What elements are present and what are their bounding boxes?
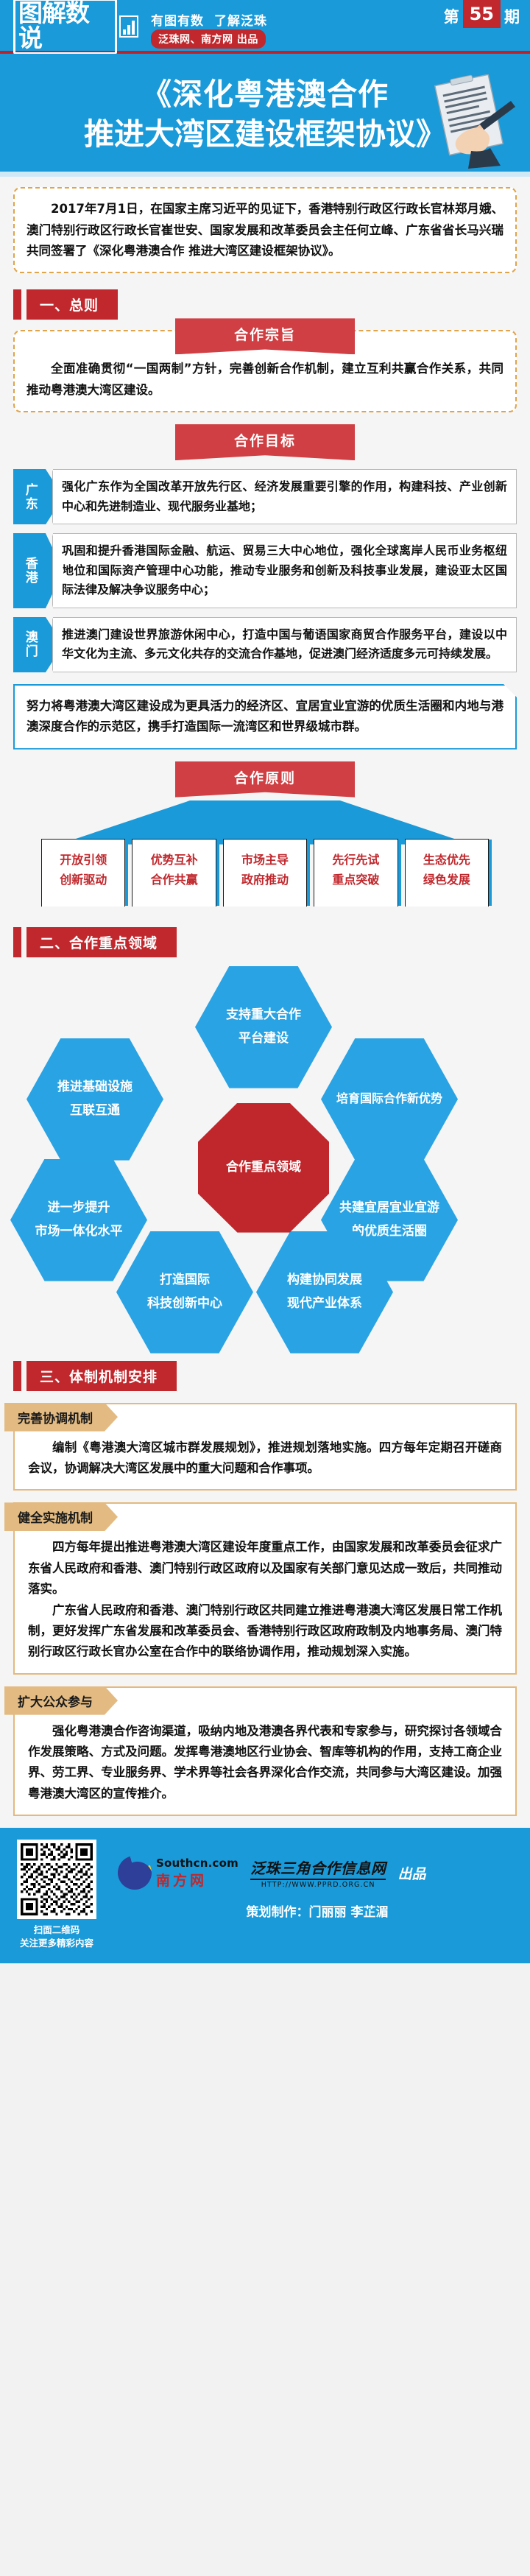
principles-columns: 开放引领 创新驱动 优势互补 合作共赢 市场主导 政府推动 先行先试 重点突破 … xyxy=(41,839,489,907)
principle-3-line-1: 市场主导 xyxy=(224,850,306,870)
region-row-hongkong: 香港 巩固和提升香港国际金融、航运、贸易三大中心地位，强化全球离岸人民币业务枢纽… xyxy=(13,533,517,608)
principle-item-2: 优势互补 合作共赢 xyxy=(132,839,216,907)
principle-2-line-2: 合作共赢 xyxy=(132,870,215,890)
masthead: 图解数说 有图有数了解泛珠 泛珠网、南方网 出品 第 55 期 xyxy=(0,0,530,54)
slogan-part-1: 有图有数 xyxy=(151,14,204,29)
credit-line: 策划制作：门丽丽 李芷湄 xyxy=(118,1901,517,1920)
footer: 扫面二维码 关注更多精彩内容 Southcn.com 南方网 泛珠三角合作信息网… xyxy=(0,1828,530,1963)
goals-banner: 合作目标 xyxy=(175,424,355,460)
mechanism-paragraph: 广东省人民政府和香港、澳门特别行政区共同建立推进粤港澳大湾区发展日常工作机制，更… xyxy=(28,1600,502,1663)
issue-suffix: 期 xyxy=(504,6,520,28)
region-name-macau: 澳门 xyxy=(22,630,36,658)
hex-market-integration: 进一步提升 市场一体化水平 xyxy=(10,1159,147,1281)
principles-banner-label: 合作原则 xyxy=(234,770,296,786)
region-text-macau: 推进澳门建设世界旅游休闲中心，打造中国与葡语国家商贸合作服务平台，建设以中华文化… xyxy=(62,625,507,664)
section-accent-bar xyxy=(13,927,21,957)
region-name-guangdong: 广东 xyxy=(22,483,36,511)
southcn-swirl-icon xyxy=(118,1856,152,1890)
purpose-text: 全面准确贯彻“一国两制”方针，完善创新合作机制，建立互利共赢合作关系，共同推动粤… xyxy=(26,359,504,401)
ribbon-tail-left-icon xyxy=(159,424,175,437)
hex-platform: 支持重大合作 平台建设 xyxy=(195,966,332,1088)
principle-1-line-1: 开放引领 xyxy=(42,850,124,870)
ribbon-tail-right-icon xyxy=(355,424,371,437)
principles-diagram: 开放引领 创新驱动 优势互补 合作共赢 市场主导 政府推动 先行先试 重点突破 … xyxy=(13,800,517,911)
hero-banner: 《深化粤港澳合作 推进大湾区建设框架协议》 xyxy=(0,54,530,177)
brand-row: Southcn.com 南方网 泛珠三角合作信息网 HTTP://WWW.PPR… xyxy=(118,1856,517,1890)
qr-caption: 扫面二维码 关注更多精彩内容 xyxy=(13,1924,100,1950)
page-title-line-2: 推进大湾区建设框架协议》 xyxy=(84,116,446,152)
mechanism-label-implementation: 健全实施机制 xyxy=(4,1502,118,1531)
qr-code[interactable] xyxy=(17,1840,96,1919)
hex-center-key-areas: 合作重点领域 xyxy=(198,1103,329,1233)
region-text-guangdong: 强化广东作为全国改革开放先行区、经济发展重要引擎的作用，构建科技、产业创新中心和… xyxy=(62,477,507,516)
hex-infrastructure-line-1: 推进基础设施 xyxy=(57,1080,132,1094)
mechanism-body: 强化粤港澳合作咨询渠道，吸纳内地及港澳各界代表和专家参与，研究探讨各领域合作发展… xyxy=(15,1721,515,1805)
issue-prefix: 第 xyxy=(444,6,459,28)
mechanism-block-public: 扩大公众参与 强化粤港澳合作咨询渠道，吸纳内地及港澳各界代表和专家参与，研究探讨… xyxy=(13,1688,517,1817)
region-row-macau: 澳门 推进澳门建设世界旅游休闲中心，打造中国与葡语国家商贸合作服务平台，建设以中… xyxy=(13,617,517,672)
principle-5-line-1: 生态优先 xyxy=(406,850,488,870)
producer-badge: 泛珠网、南方网 出品 xyxy=(151,29,266,49)
section-accent-bar xyxy=(13,289,21,320)
hex-tech-innovation-line-1: 打造国际 xyxy=(160,1273,210,1287)
principle-3-line-2: 政府推动 xyxy=(224,870,306,890)
section-heading-3: 三、体制机制安排 xyxy=(13,1361,517,1391)
purpose-card: 合作宗旨 全面准确贯彻“一国两制”方针，完善创新合作机制，建立互利共赢合作关系，… xyxy=(13,330,517,412)
principles-banner: 合作原则 xyxy=(175,761,355,798)
ribbon-tail-right-icon xyxy=(355,761,371,774)
hex-platform-line-2: 平台建设 xyxy=(239,1031,289,1046)
ribbon-tail-right-icon xyxy=(355,318,371,331)
hex-industry-system-line-1: 构建协同发展 xyxy=(287,1273,362,1287)
infographic-page: 图解数说 有图有数了解泛珠 泛珠网、南方网 出品 第 55 期 xyxy=(0,0,530,1963)
issue-number: 55 xyxy=(463,0,501,28)
mechanism-body: 编制《粤港澳大湾区城市群发展规划》，推进规划落地实施。四方每年定期召开磋商会议，… xyxy=(15,1437,515,1479)
intro-text: 2017年7月1日，在国家主席习近平的见证下，香港特别行政区行政长官林郑月娥、澳… xyxy=(26,199,504,261)
qr-column: 扫面二维码 关注更多精彩内容 xyxy=(13,1840,100,1950)
intro-card: 2017年7月1日，在国家主席习近平的见证下，香港特别行政区行政长官林郑月娥、澳… xyxy=(13,187,517,273)
site-logo[interactable]: 图解数说 xyxy=(13,9,138,44)
qr-code-icon xyxy=(21,1843,93,1915)
region-name-hongkong: 香港 xyxy=(22,557,36,585)
issue-indicator: 第 55 期 xyxy=(444,6,520,28)
section-heading-2: 二、合作重点领域 xyxy=(13,927,517,957)
southcn-domain: Southcn.com xyxy=(156,1857,239,1870)
region-body: 推进澳门建设世界旅游休闲中心，打造中国与葡语国家商贸合作服务平台，建设以中华文化… xyxy=(53,617,517,672)
brand-column: Southcn.com 南方网 泛珠三角合作信息网 HTTP://WWW.PPR… xyxy=(118,1840,517,1920)
hex-platform-line-1: 支持重大合作 xyxy=(226,1007,301,1022)
principle-item-1: 开放引领 创新驱动 xyxy=(41,839,125,907)
section-1-title: 一、总则 xyxy=(26,289,118,320)
principle-5-line-2: 绿色发展 xyxy=(406,870,488,890)
hex-international-advantage: 培育国际合作新优势 xyxy=(321,1038,458,1161)
goals-banner-label: 合作目标 xyxy=(234,433,296,449)
hex-market-integration-line-2: 市场一体化水平 xyxy=(35,1224,123,1239)
qr-caption-line-1: 扫面二维码 xyxy=(13,1924,100,1937)
qr-caption-line-2: 关注更多精彩内容 xyxy=(13,1937,100,1950)
region-row-guangdong: 广东 强化广东作为全国改革开放先行区、经济发展重要引擎的作用，构建科技、产业创新… xyxy=(13,469,517,524)
section-heading-1: 一、总则 xyxy=(13,289,517,320)
mechanism-block-coordination: 完善协调机制 编制《粤港澳大湾区城市群发展规划》，推进规划落地实施。四方每年定期… xyxy=(13,1404,517,1491)
goals-summary-box: 努力将粤港澳大湾区建设成为更具活力的经济区、宜居宜业宜游的优质生活圈和内地与港澳… xyxy=(13,684,517,750)
section-3-title: 三、体制机制安排 xyxy=(26,1361,177,1391)
hex-infrastructure-line-2: 互联互通 xyxy=(70,1103,120,1118)
pprd-name: 泛珠三角合作信息网 xyxy=(250,1857,386,1878)
slogan-part-2: 了解泛珠 xyxy=(214,14,267,29)
pprd-logo[interactable]: 泛珠三角合作信息网 HTTP://WWW.PPRD.ORG.CN xyxy=(250,1857,386,1889)
principles-roof-shape xyxy=(59,800,471,845)
mechanism-paragraph: 四方每年提出推进粤港澳大湾区建设年度重点工作，由国家发展和改革委员会征求广东省人… xyxy=(28,1537,502,1600)
purpose-banner: 合作宗旨 xyxy=(175,318,355,354)
hex-infrastructure: 推进基础设施 互联互通 xyxy=(26,1038,163,1161)
region-tab-label: 香港 xyxy=(13,533,46,608)
principle-item-3: 市场主导 政府推动 xyxy=(223,839,307,907)
goals-summary-text: 努力将粤港澳大湾区建设成为更具活力的经济区、宜居宜业宜游的优质生活圈和内地与港澳… xyxy=(26,696,504,738)
mechanism-paragraph: 编制《粤港澳大湾区城市群发展规划》，推进规划落地实施。四方每年定期召开磋商会议，… xyxy=(28,1437,502,1479)
region-tab-label: 广东 xyxy=(13,469,46,524)
ribbon-tail-left-icon xyxy=(159,761,175,774)
hex-quality-life-line-2: 的优质生活圈 xyxy=(352,1224,427,1239)
principle-item-5: 生态优先 绿色发展 xyxy=(405,839,489,907)
region-text-hongkong: 巩固和提升香港国际金融、航运、贸易三大中心地位，强化全球离岸人民币业务枢纽地位和… xyxy=(62,541,507,600)
purpose-banner-label: 合作宗旨 xyxy=(234,327,296,343)
key-areas-hex-diagram: 支持重大合作 平台建设 培育国际合作新优势 共建宜居宜业宜游 的优质生活圈 构建… xyxy=(13,962,517,1345)
hex-tech-innovation: 打造国际 科技创新中心 xyxy=(116,1231,253,1354)
region-tab-label: 澳门 xyxy=(13,617,46,672)
region-body: 强化广东作为全国改革开放先行区、经济发展重要引擎的作用，构建科技、产业创新中心和… xyxy=(53,469,517,524)
goals-banner-wrap: 合作目标 xyxy=(13,424,517,460)
principle-1-line-2: 创新驱动 xyxy=(42,870,124,890)
principle-4-line-2: 重点突破 xyxy=(314,870,397,890)
masthead-slogan: 有图有数了解泛珠 xyxy=(151,10,267,29)
pprd-url: HTTP://WWW.PPRD.ORG.CN xyxy=(250,1879,386,1889)
mechanism-label-public: 扩大公众参与 xyxy=(4,1686,118,1715)
region-body: 巩固和提升香港国际金融、航运、贸易三大中心地位，强化全球离岸人民币业务枢纽地位和… xyxy=(53,533,517,608)
section-accent-bar xyxy=(13,1361,21,1391)
hex-quality-life-line-1: 共建宜居宜业宜游 xyxy=(339,1200,439,1215)
hex-market-integration-line-1: 进一步提升 xyxy=(48,1200,110,1215)
principle-2-line-1: 优势互补 xyxy=(132,850,215,870)
hex-tech-innovation-line-2: 科技创新中心 xyxy=(147,1296,222,1311)
page-title-line-1: 《深化粤港澳合作 xyxy=(141,77,389,112)
mechanism-body: 四方每年提出推进粤港澳大湾区建设年度重点工作，由国家发展和改革委员会征求广东省人… xyxy=(15,1537,515,1662)
hex-industry-system-line-2: 现代产业体系 xyxy=(287,1296,362,1311)
southcn-name: 南方网 xyxy=(156,1870,239,1890)
hex-international-advantage-line-1: 培育国际合作新优势 xyxy=(336,1091,442,1105)
site-logo-text: 图解数说 xyxy=(13,0,117,54)
purpose-banner-wrap: 合作宗旨 xyxy=(26,318,504,354)
page-title: 《深化粤港澳合作 推进大湾区建设框架协议》 xyxy=(0,74,530,154)
principle-4-line-1: 先行先试 xyxy=(314,850,397,870)
section-2-title: 二、合作重点领域 xyxy=(26,927,177,957)
mechanism-label-coordination: 完善协调机制 xyxy=(4,1403,118,1432)
southcn-logo[interactable]: Southcn.com 南方网 xyxy=(118,1856,239,1890)
bar-chart-icon xyxy=(119,15,138,38)
mechanism-block-implementation: 健全实施机制 四方每年提出推进粤港澳大湾区建设年度重点工作，由国家发展和改革委员… xyxy=(13,1504,517,1674)
principle-item-4: 先行先试 重点突破 xyxy=(314,839,397,907)
principles-banner-wrap: 合作原则 xyxy=(13,761,517,798)
ribbon-tail-left-icon xyxy=(159,318,175,331)
mechanism-paragraph: 强化粤港澳合作咨询渠道，吸纳内地及港澳各界代表和专家参与，研究探讨各领域合作发展… xyxy=(28,1721,502,1805)
hex-center-label: 合作重点领域 xyxy=(226,1156,301,1179)
produced-by-label: 出品 xyxy=(397,1863,425,1883)
